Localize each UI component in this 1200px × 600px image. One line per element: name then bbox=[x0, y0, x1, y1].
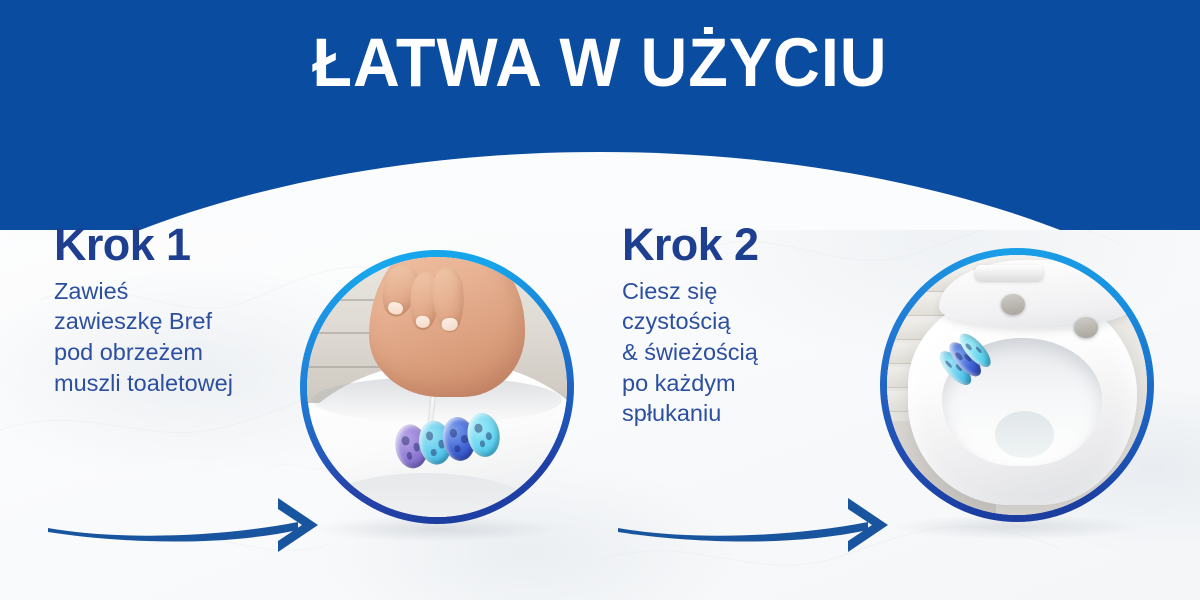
arrow-right-icon-step-2 bbox=[616, 482, 916, 552]
toilet-seat-hinge bbox=[1001, 294, 1024, 315]
arrow-right-icon-step-1 bbox=[46, 482, 346, 552]
step-1-text-block: Krok 1 Zawieś zawieszkę Bref pod obrzeże… bbox=[54, 222, 324, 398]
toilet-water-drain bbox=[995, 411, 1054, 458]
step-1-line-1: Zawieś bbox=[54, 276, 324, 307]
step-2-photo bbox=[880, 248, 1154, 522]
fingernail bbox=[387, 300, 406, 316]
step-2-heading: Krok 2 bbox=[622, 222, 872, 268]
toilet-seat-hinge-bar bbox=[975, 265, 1043, 281]
step-1-line-3: pod obrzeżem bbox=[54, 337, 324, 368]
step-2-text-block: Krok 2 Ciesz się czystością & świeżością… bbox=[622, 222, 872, 429]
step-2-line-1: Ciesz się bbox=[622, 276, 872, 307]
fingernail bbox=[415, 314, 430, 328]
toilet-seat-hinge bbox=[1074, 317, 1097, 338]
fingernail bbox=[442, 318, 458, 332]
step-1-line-4: muszli toaletowej bbox=[54, 368, 324, 399]
page-title: ŁATWA W UŻYCIU bbox=[36, 28, 1164, 97]
step-1-line-2: zawieszkę Bref bbox=[54, 306, 324, 337]
step-2-line-3: & świeżością bbox=[622, 337, 872, 368]
step-1-photo-image bbox=[307, 257, 567, 517]
step-2-description: Ciesz się czystością & świeżością po każ… bbox=[622, 276, 872, 429]
step-1-description: Zawieś zawieszkę Bref pod obrzeżem muszl… bbox=[54, 276, 324, 398]
step-2-photo-image bbox=[887, 255, 1147, 515]
finger bbox=[431, 267, 467, 333]
infographic-canvas: ŁATWA W UŻYCIU Krok 1 Zawieś zawieszkę B… bbox=[0, 0, 1200, 600]
step-2-line-2: czystością bbox=[622, 306, 872, 337]
step-1-heading: Krok 1 bbox=[54, 222, 324, 268]
step-2-line-4: po każdym bbox=[622, 368, 872, 399]
hand bbox=[369, 257, 525, 397]
step-2-line-5: spłukaniu bbox=[622, 398, 872, 429]
